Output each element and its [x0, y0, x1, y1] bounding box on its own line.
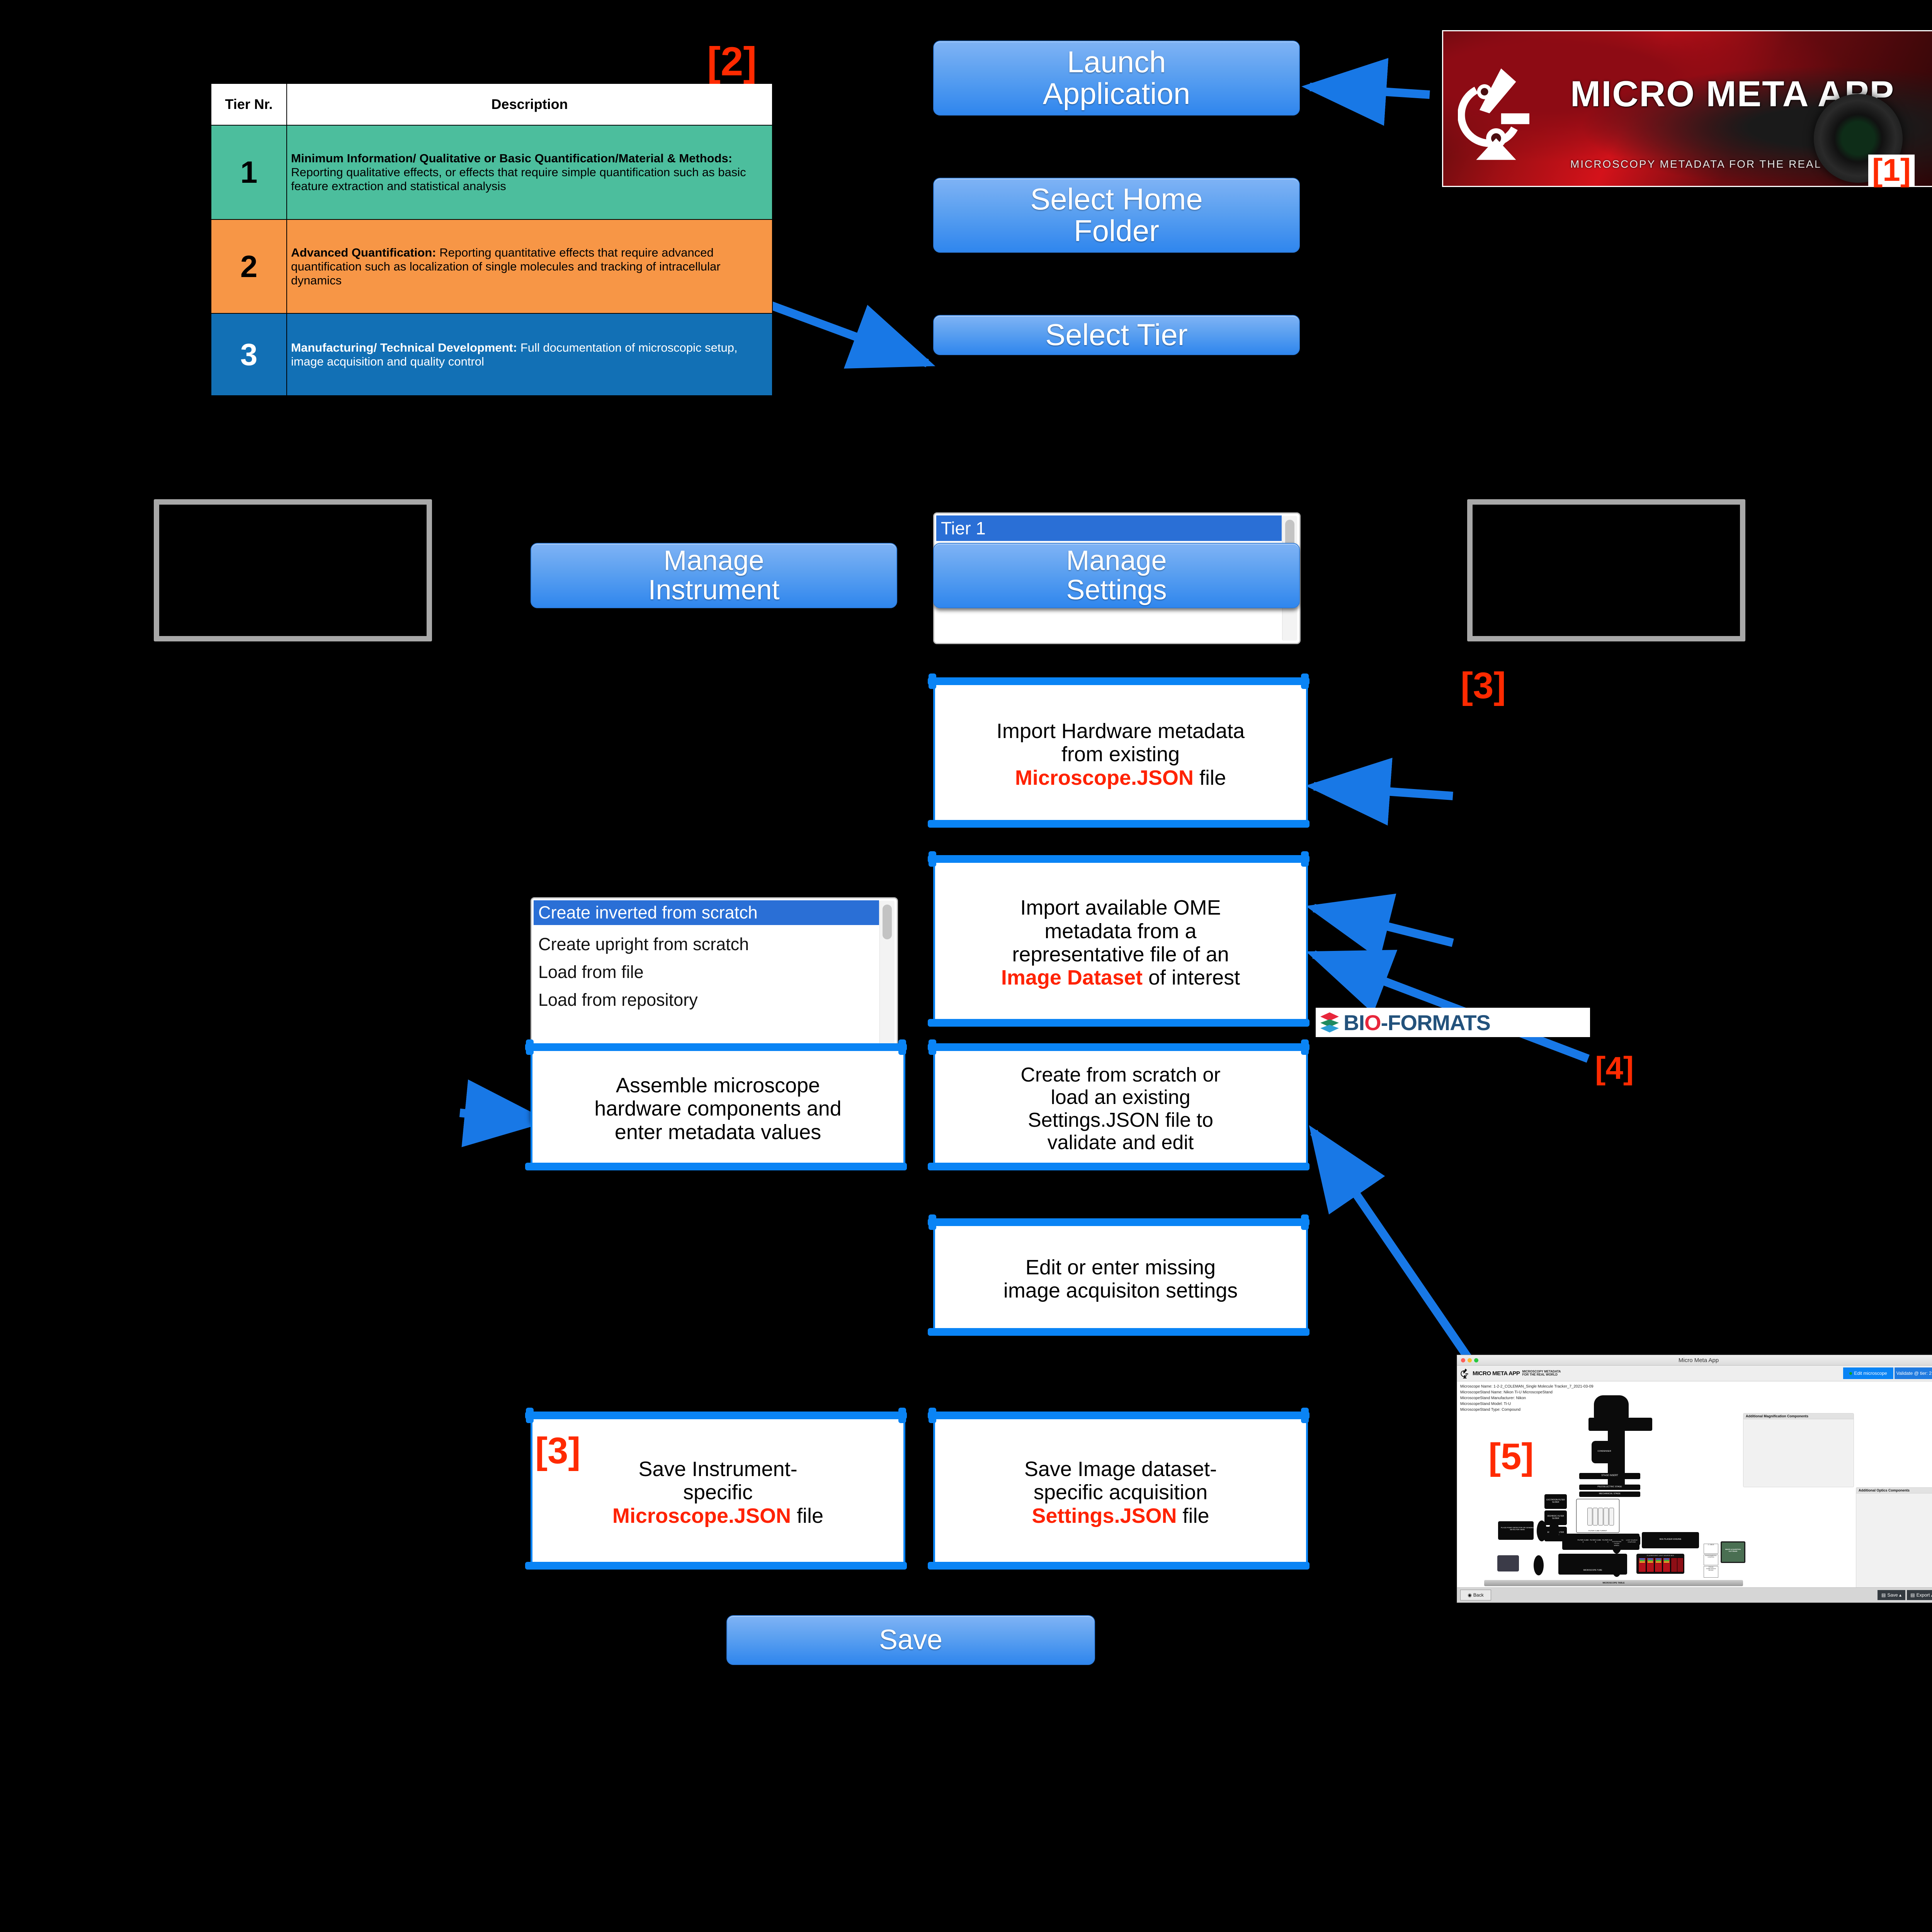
- app-bottom-bar: ◉ Back ▤ Save ▴ ▤ Export ▴: [1457, 1587, 1932, 1602]
- manage-instrument-label-line1: Manage: [663, 546, 764, 576]
- laser-stripe: [1639, 1560, 1645, 1561]
- instrument-listbox-scroll-thumb[interactable]: [883, 905, 892, 939]
- point-detector-label: PLACE POINT DETECTOR OR GENERIC DETECTOR…: [1498, 1527, 1537, 1531]
- back-button[interactable]: ◉ Back: [1460, 1590, 1491, 1600]
- table-row: 3 Manufacturing/ Technical Development: …: [211, 313, 772, 396]
- bio-formats-wordmark: BIO-FORMATS: [1344, 1010, 1490, 1035]
- light-source-coupling-1: LIGHT SOURCE COUPLING: [1623, 1536, 1640, 1545]
- acquisition-software-label: IMAGE ACQUISITION SOFTWARE: [1721, 1548, 1745, 1552]
- manage-instrument-button[interactable]: Manage Instrument: [531, 543, 897, 608]
- z-drive-card: Z - DRIVE: [1704, 1544, 1718, 1554]
- acquisition-software-screen: [1722, 1543, 1744, 1562]
- assemble-hardware-line2: hardware components and: [594, 1097, 841, 1120]
- manage-settings-label-line2: Settings: [1066, 576, 1167, 605]
- callout-handle-bottom: [525, 1562, 907, 1570]
- listbox-option-create-inverted[interactable]: Create inverted from scratch: [534, 900, 879, 925]
- excitation-filter-slider-label: EXCITATION FILTER SLIDER: [1544, 1499, 1567, 1503]
- mechanical-stage-bar: MECHANICAL STAGE: [1579, 1492, 1640, 1497]
- save-settings-callout-wrap: Save Image dataset- specific acquisition…: [933, 1416, 1304, 1565]
- laser-stripe: [1656, 1558, 1661, 1560]
- back-arrow-icon: ◉: [1468, 1592, 1471, 1598]
- callout-handle-top: [928, 677, 1310, 685]
- manage-instrument-label-line2: Instrument: [648, 576, 779, 605]
- callout-handle-left: [929, 673, 936, 689]
- additional-magnification-panel: Additional Magnification Components: [1743, 1413, 1854, 1487]
- callout-handle-top: [928, 855, 1310, 863]
- export-dropdown-button[interactable]: ▤ Export ▴: [1907, 1590, 1932, 1600]
- callout-handle-left: [929, 1408, 936, 1423]
- edit-missing-line2: image acquisiton settings: [1003, 1279, 1238, 1302]
- placeholder-frame-left: [154, 499, 432, 641]
- callout-handle-bottom: [525, 1163, 907, 1170]
- tier-number-1: 1: [211, 125, 287, 219]
- condenser-label: CONDENSER: [1592, 1450, 1617, 1452]
- bio-formats-text-after: -FORMATS: [1381, 1010, 1490, 1035]
- condenser-block: CONDENSER: [1592, 1441, 1617, 1463]
- create-or-load-settings-callout-wrap: Create from scratch or load an existing …: [933, 1048, 1304, 1166]
- mechanical-stage-label: MECHANICAL STAGE: [1579, 1493, 1640, 1495]
- create-or-load-settings-callout: Create from scratch or load an existing …: [933, 1048, 1308, 1170]
- save-settings-callout: Save Image dataset- specific acquisition…: [933, 1416, 1308, 1569]
- ref-label-5: [5]: [1488, 1435, 1534, 1478]
- callout-handle-bottom: [928, 1562, 1310, 1570]
- callout-handle-left: [526, 1039, 534, 1055]
- launch-application-button[interactable]: Launch Application: [933, 41, 1300, 116]
- laser-source-3: [1655, 1558, 1662, 1572]
- fluorescent-light-source-box: FLUORESCENT LIGHT SOURCE BOX: [1636, 1554, 1684, 1574]
- laser-source-5-placeholder: [1671, 1558, 1677, 1572]
- bio-formats-text-before: BI: [1344, 1010, 1364, 1035]
- tier-description-3: Manufacturing/ Technical Development: Fu…: [287, 313, 772, 396]
- callout-handle-left: [929, 1214, 936, 1230]
- save-button[interactable]: Save: [726, 1615, 1095, 1665]
- laser-source-1: [1638, 1558, 1646, 1572]
- select-home-folder-button[interactable]: Select Home Folder: [933, 178, 1300, 253]
- callout-handle-left: [929, 851, 936, 867]
- edit-microscope-button[interactable]: Edit microscope: [1843, 1367, 1893, 1379]
- table-header-row: Tier Nr. Description: [211, 83, 772, 125]
- laser-stripe: [1656, 1561, 1661, 1563]
- metadata-line: Microscope Name: 1-2-2_COLEMAN_Single Mo…: [1460, 1384, 1594, 1389]
- select-tier-label: Select Tier: [1045, 319, 1187, 351]
- create-or-load-line4: validate and edit: [1020, 1131, 1220, 1154]
- additional-optics-panel: Additional Optics Components: [1856, 1487, 1932, 1603]
- import-hardware-line1: Import Hardware metadata: [997, 719, 1245, 743]
- ref-label-1-text: [1]: [1872, 153, 1911, 188]
- callout-handle-bottom: [928, 1019, 1310, 1027]
- window-title: Micro Meta App: [1457, 1357, 1932, 1364]
- ref-label-1: [1]: [1868, 155, 1915, 186]
- save-dropdown-button[interactable]: ▤ Save ▴: [1878, 1590, 1905, 1600]
- focus-stabilization-card: FOCUS STABILIZATION DEVICE: [1704, 1566, 1718, 1578]
- fluorescent-box-label: FLUORESCENT LIGHT SOURCE BOX: [1636, 1554, 1684, 1556]
- objective-5: [1609, 1508, 1614, 1526]
- bio-formats-text-o: O: [1364, 1010, 1381, 1035]
- excitation-filter-slider: EXCITATION FILTER SLIDER: [1544, 1494, 1567, 1509]
- callout-handle-bottom: [928, 1163, 1310, 1170]
- export-label: Export ▴: [1917, 1592, 1932, 1598]
- import-ome-line4: of interest: [1143, 966, 1240, 989]
- tier-desc-bold-3: Manufacturing/ Technical Development:: [291, 341, 517, 354]
- focus-stabilization-label: FOCUS STABILIZATION DEVICE: [1706, 1566, 1716, 1571]
- save-settings-line1: Save Image dataset-: [1024, 1458, 1217, 1481]
- banner-tagline: MICROSCOPY METADATA FOR THE REAL: [1570, 158, 1821, 170]
- callout-handle-bottom: [928, 820, 1310, 828]
- select-home-folder-label-line2: Folder: [1074, 215, 1159, 247]
- save-settings-highlight: Settings.JSON: [1032, 1504, 1177, 1527]
- laser-stripe: [1664, 1561, 1669, 1563]
- save-disk-icon: ▤: [1881, 1592, 1886, 1598]
- export-file-icon: ▤: [1910, 1592, 1915, 1598]
- assemble-hardware-callout-wrap: Assemble microscope hardware components …: [531, 1048, 901, 1166]
- callout-handle-right: [1301, 1039, 1309, 1055]
- objective-2: [1593, 1508, 1598, 1526]
- tier-desc-bold-1: Minimum Information/ Qualitative or Basi…: [291, 151, 732, 165]
- save-settings-line2: specific acquisition: [1024, 1481, 1217, 1504]
- point-detector-box: PLACE POINT DETECTOR OR GENERIC DETECTOR…: [1498, 1521, 1534, 1540]
- import-hardware-line3: file: [1194, 766, 1226, 789]
- create-or-load-line1: Create from scratch or: [1020, 1064, 1220, 1086]
- save-microscope-line1: Save Instrument-: [612, 1458, 823, 1481]
- microscope-logo-icon: [1460, 1368, 1470, 1379]
- micro-meta-app-microscope-window[interactable]: Micro Meta App MICRO META APP MICROSCOPY…: [1457, 1355, 1932, 1603]
- save-label: Save ▴: [1887, 1592, 1901, 1598]
- app-logo-name: MICRO META APP: [1473, 1370, 1520, 1377]
- multilaser-engine-label: MULTILASER ENGINE: [1642, 1538, 1699, 1541]
- validate-tier-label: Validate @ tier: 2 ▾: [1896, 1371, 1932, 1376]
- save-microscope-line3: file: [791, 1504, 823, 1527]
- import-ome-line3: representative file of an: [1001, 943, 1240, 966]
- tier-desc-text-1: Reporting qualitative effects, or effect…: [291, 165, 746, 193]
- z-drive-label: Z - DRIVE: [1708, 1544, 1714, 1546]
- table-row: 1 Minimum Information/ Qualitative or Ba…: [211, 125, 772, 219]
- app-logo: MICRO META APP MICROSCOPY METADATA FOR T…: [1460, 1368, 1561, 1379]
- dichroic-filter-wheel-lower: [1534, 1555, 1544, 1575]
- laser-stripe: [1648, 1561, 1653, 1563]
- save-microscope-highlight: Microscope.JSON: [612, 1504, 791, 1527]
- laser-stripe: [1639, 1561, 1645, 1563]
- listbox-option-tier-1[interactable]: Tier 1: [936, 515, 1282, 541]
- objective-4: [1604, 1508, 1609, 1526]
- ref-label-3-app: [3]: [1461, 665, 1506, 707]
- import-ome-callout-wrap: Import available OME metadata from a rep…: [933, 860, 1304, 1022]
- ref-label-4: [4]: [1595, 1050, 1634, 1087]
- multilaser-engine: MULTILASER ENGINE: [1642, 1532, 1699, 1548]
- launch-application-label-line1: Launch: [1067, 46, 1166, 78]
- dichroic-filter-slider-label: DICHROIC FILTER SLIDER: [1544, 1515, 1567, 1520]
- app-toolbar: MICRO META APP MICROSCOPY METADATA FOR T…: [1457, 1366, 1932, 1381]
- objective-1: [1587, 1508, 1592, 1526]
- create-or-load-line2: load an existing: [1020, 1086, 1220, 1109]
- edit-missing-line1: Edit or enter missing: [1003, 1256, 1238, 1279]
- dichroic-filter-wheel: [1549, 1520, 1559, 1541]
- app-logo-tagline: MICROSCOPY METADATA FOR THE REAL WORLD: [1522, 1370, 1561, 1377]
- excitation-filter-wheel-lower: [1612, 1557, 1622, 1577]
- listbox-option-load-from-repository[interactable]: Load from repository: [534, 988, 879, 1012]
- import-hardware-line2: from existing: [997, 743, 1245, 766]
- micro-meta-app-banner: MICRO META APP MICROSCOPY METADATA FOR T…: [1442, 30, 1932, 187]
- callout-handle-top: [928, 1218, 1310, 1226]
- bio-formats-logo: BIO-FORMATS: [1316, 1008, 1590, 1037]
- callout-handle-left: [526, 1408, 534, 1423]
- objective-turret-panel: FILTER CUBE TURRET: [1576, 1499, 1619, 1533]
- piezo-stage-bar: PIEZOELECTRIC STAGE: [1579, 1485, 1640, 1490]
- create-or-load-line3: Settings.JSON file to: [1020, 1109, 1220, 1131]
- validate-tier-button[interactable]: Validate @ tier: 2 ▾: [1895, 1367, 1932, 1379]
- import-hardware-highlight: Microscope.JSON: [1015, 766, 1194, 789]
- tier-desc-bold-2: Advanced Quantification:: [291, 246, 436, 259]
- back-label: Back: [1473, 1592, 1484, 1598]
- select-tier-button[interactable]: Select Tier: [933, 315, 1300, 355]
- turret-objective-focusing-label: FILTER CUBE TURRET: [1577, 1530, 1619, 1532]
- import-ome-callout: Import available OME metadata from a rep…: [933, 860, 1308, 1026]
- manage-settings-label-line1: Manage: [1066, 546, 1167, 576]
- import-ome-line1: Import available OME: [1001, 896, 1240, 919]
- import-ome-line2: metadata from a: [1001, 920, 1240, 943]
- save-microscope-line2: specific: [612, 1481, 823, 1504]
- ref-label-3-save: [3]: [535, 1430, 580, 1472]
- additional-magnification-header: Additional Magnification Components: [1743, 1413, 1854, 1419]
- callout-handle-top: [525, 1412, 907, 1419]
- stage-insert-bar: STAGE INSERT: [1579, 1473, 1640, 1479]
- window-titlebar: Micro Meta App: [1457, 1355, 1932, 1366]
- excitation-filter-wheel-upper: EXCITATION FILTER WHEEL: [1612, 1534, 1622, 1554]
- assemble-hardware-line1: Assemble microscope: [594, 1074, 841, 1097]
- laser-source-2: [1646, 1558, 1654, 1572]
- stand-top-head: [1594, 1395, 1629, 1418]
- callout-handle-bottom: [928, 1328, 1310, 1336]
- laser-stripe: [1664, 1558, 1669, 1560]
- microscope-table-bar: MICROSCOPE TABLE: [1484, 1580, 1743, 1586]
- listbox-option-create-upright[interactable]: Create upright from scratch: [534, 932, 879, 957]
- bio-formats-stack-icon: [1320, 1012, 1340, 1033]
- table-row: 2 Advanced Quantification: Reporting qua…: [211, 219, 772, 314]
- callout-handle-top: [928, 1412, 1310, 1419]
- ccd-camera: [1497, 1555, 1519, 1571]
- edit-microscope-label: Edit microscope: [1854, 1371, 1887, 1376]
- laser-stripe: [1639, 1558, 1645, 1560]
- laser-stripe: [1648, 1560, 1653, 1561]
- column-header-tier-nr: Tier Nr.: [211, 83, 287, 125]
- save-button-label: Save: [879, 1626, 942, 1655]
- emission-filter-wheel: [1537, 1520, 1547, 1541]
- environmental-control-label: ENVIRONMENTAL CONTROL: [1705, 1555, 1717, 1558]
- import-ome-highlight: Image Dataset: [1001, 966, 1143, 989]
- tier-table-container: Tier Nr. Description 1 Minimum Informati…: [211, 83, 773, 396]
- tier-number-2: 2: [211, 219, 287, 314]
- callout-handle-right: [898, 1408, 906, 1423]
- import-hardware-callout: Import Hardware metadata from existing M…: [933, 682, 1308, 827]
- placeholder-frame-right: [1467, 499, 1745, 641]
- callout-handle-top: [525, 1043, 907, 1051]
- laser-stripe: [1656, 1560, 1661, 1561]
- app-logo-tagline-line2: FOR THE REAL WORLD: [1522, 1373, 1557, 1376]
- tier-number-3: 3: [211, 313, 287, 396]
- filter-cube-2: FILTER CUBE 2: [1577, 1539, 1589, 1543]
- import-hardware-callout-wrap: Import Hardware metadata from existing M…: [933, 682, 1304, 823]
- status-dot-icon: [1849, 1372, 1852, 1375]
- select-home-folder-label-line1: Select Home: [1030, 184, 1203, 215]
- edit-missing-callout: Edit or enter missing image acquisiton s…: [933, 1223, 1308, 1335]
- assemble-hardware-callout: Assemble microscope hardware components …: [531, 1048, 905, 1170]
- callout-handle-right: [1301, 1214, 1309, 1230]
- excitation-filter-wheel-label: EXCITATION FILTER WHEEL: [1612, 1541, 1622, 1546]
- metadata-line: MicroscopeStand Name: Nikon Ti-U Microsc…: [1460, 1389, 1594, 1395]
- assemble-hardware-line3: enter metadata values: [594, 1121, 841, 1144]
- manage-settings-button[interactable]: Manage Settings: [933, 543, 1300, 608]
- save-microscope-callout-wrap: Save Instrument- specific Microscope.JSO…: [531, 1416, 901, 1565]
- callout-handle-right: [1301, 1408, 1309, 1423]
- laser-stripe: [1648, 1558, 1653, 1560]
- tier-description-2: Advanced Quantification: Reporting quant…: [287, 219, 772, 314]
- laser-source-6-placeholder: [1677, 1558, 1684, 1572]
- edit-missing-callout-wrap: Edit or enter missing image acquisiton s…: [933, 1223, 1304, 1331]
- listbox-option-load-from-file[interactable]: Load from file: [534, 960, 879, 985]
- piezo-stage-label: PIEZOELECTRIC STAGE: [1579, 1486, 1640, 1488]
- filter-cube-3: FILTER CUBE 3: [1589, 1539, 1602, 1543]
- microscope-table-label: MICROSCOPE TABLE: [1602, 1582, 1624, 1584]
- save-microscope-callout: Save Instrument- specific Microscope.JSO…: [531, 1416, 905, 1569]
- ref-label-2: [2]: [707, 39, 757, 85]
- callout-handle-right: [898, 1039, 906, 1055]
- launch-application-label-line2: Application: [1043, 78, 1190, 110]
- callout-handle-right: [1301, 673, 1309, 689]
- light-source-coupling-label-1: LIGHT SOURCE COUPLING: [1623, 1539, 1640, 1543]
- column-header-description: Description: [287, 83, 772, 125]
- save-settings-line3: file: [1177, 1504, 1209, 1527]
- stage-insert-label: STAGE INSERT: [1579, 1475, 1640, 1477]
- objective-3: [1598, 1508, 1603, 1526]
- tier-description-1: Minimum Information/ Qualitative or Basi…: [287, 125, 772, 219]
- callout-handle-right: [1301, 851, 1309, 867]
- acquisition-software-monitor: IMAGE ACQUISITION SOFTWARE: [1721, 1541, 1745, 1563]
- environmental-control-card: ENVIRONMENTAL CONTROL: [1704, 1554, 1718, 1565]
- additional-optics-header: Additional Optics Components: [1856, 1488, 1932, 1493]
- callout-handle-left: [929, 1039, 936, 1055]
- microscope-logo-icon: [1458, 53, 1541, 170]
- laser-source-4: [1663, 1558, 1670, 1572]
- callout-handle-top: [928, 1043, 1310, 1051]
- laser-stripe: [1664, 1560, 1669, 1561]
- stand-arm: [1588, 1418, 1652, 1431]
